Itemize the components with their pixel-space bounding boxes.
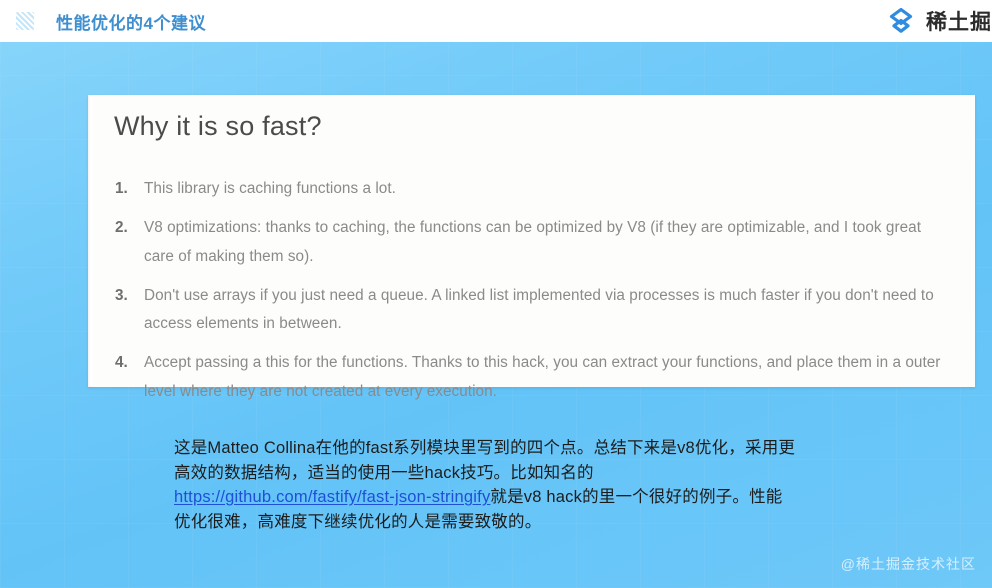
list-item-marker: 3. xyxy=(115,282,128,310)
brand-block[interactable]: 稀土掘 xyxy=(884,6,992,36)
caption-block: 这是Matteo Collina在他的fast系列模块里写到的四个点。总结下来是… xyxy=(174,436,914,534)
list-item-marker: 1. xyxy=(115,175,128,203)
hatched-square-icon xyxy=(16,12,34,30)
watermark: @稀土掘金技术社区 xyxy=(841,554,976,574)
github-link[interactable]: https://github.com/fastify/fast-json-str… xyxy=(174,488,490,506)
list-item-text: Accept passing a this for the functions.… xyxy=(144,354,940,399)
caption-line-3-rest: 就是v8 hack的里一个很好的例子。性能 xyxy=(490,488,782,506)
card-list: 1. This library is caching functions a l… xyxy=(110,175,951,417)
brand-name: 稀土掘 xyxy=(926,6,992,36)
caption-line-1: 这是Matteo Collina在他的fast系列模块里写到的四个点。总结下来是… xyxy=(174,436,914,461)
list-item-marker: 4. xyxy=(115,349,128,377)
list-item: 1. This library is caching functions a l… xyxy=(110,175,951,203)
list-item: 4. Accept passing a this for the functio… xyxy=(110,349,951,406)
page-title: 性能优化的4个建议 xyxy=(56,9,206,34)
list-item-text: V8 optimizations: thanks to caching, the… xyxy=(144,219,921,264)
juejin-chevron-logo-icon xyxy=(884,8,918,34)
caption-line-2: 高效的数据结构，适当的使用一些hack技巧。比如知名的 xyxy=(174,461,914,486)
list-item-text: This library is caching functions a lot. xyxy=(144,180,396,197)
list-item: 3. Don't use arrays if you just need a q… xyxy=(110,282,951,339)
caption-line-4: 优化很难，高难度下继续优化的人是需要致敬的。 xyxy=(174,510,914,535)
caption-line-3: https://github.com/fastify/fast-json-str… xyxy=(174,485,914,510)
list-item-marker: 2. xyxy=(115,214,128,242)
content-card: Why it is so fast? 1. This library is ca… xyxy=(88,95,975,387)
list-item: 2. V8 optimizations: thanks to caching, … xyxy=(110,214,951,271)
list-item-text: Don't use arrays if you just need a queu… xyxy=(144,287,934,332)
card-title: Why it is so fast? xyxy=(114,111,322,142)
page-header-bar: 性能优化的4个建议 稀土掘 xyxy=(0,0,992,42)
